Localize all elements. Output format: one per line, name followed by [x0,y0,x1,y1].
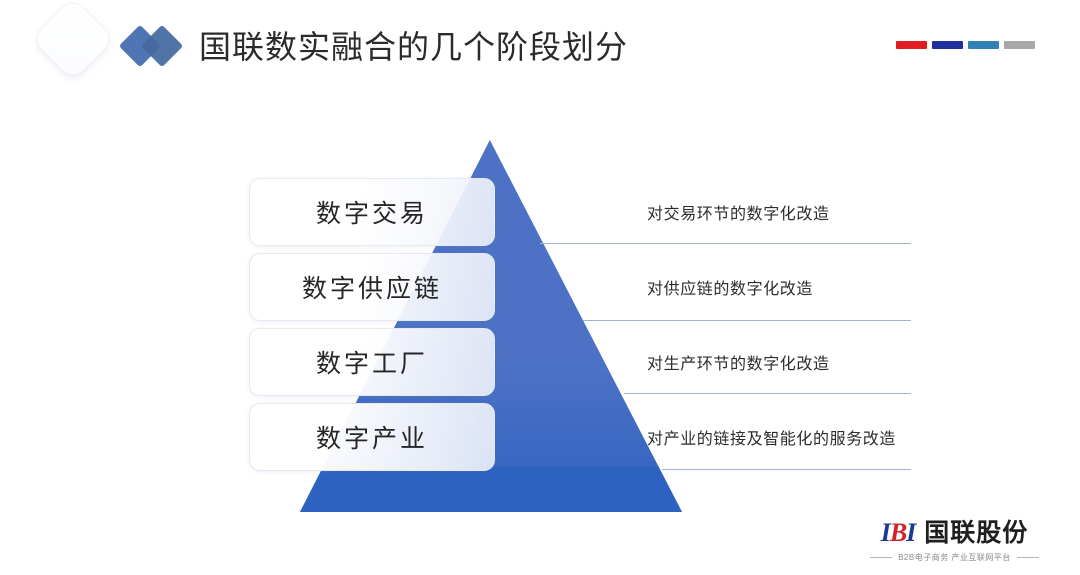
corner-color-bars [896,41,1035,49]
bar-blue [968,41,999,49]
stage-box-3[interactable]: 数字工厂 [249,328,495,396]
stage-label-4: 数字产业 [316,419,428,455]
logo-dash-right [1017,557,1039,558]
bar-gray [1004,41,1035,49]
stage-box-1[interactable]: 数字交易 [249,178,495,246]
stage-label-2: 数字供应链 [302,269,442,305]
logo-subtitle: B2B电子商务 产业互联网平台 [898,552,1011,563]
separator-rule-4 [662,469,911,470]
logo-company-name: 国联股份 [924,521,1028,546]
logomark-b: B [890,518,906,547]
stage-description-1: 对交易环节的数字化改造 [647,200,830,224]
stage-box-4[interactable]: 数字产业 [249,403,495,471]
diamond-outline-icon [32,0,114,80]
logomark-i-right: I [906,518,915,547]
separator-rule-1 [540,243,911,244]
logo-subtitle-row: B2B电子商务 产业互联网平台 [867,552,1042,563]
stage-description-2: 对供应链的数字化改造 [647,275,813,299]
stage-description-3: 对生产环节的数字化改造 [647,350,830,374]
slide-canvas: 国联数实融合的几个阶段划分 数字交易数字供应链数字工厂数字产业 对交易环节的数字… [0,0,1080,575]
stage-label-1: 数字交易 [316,194,428,230]
bar-red [896,41,927,49]
stage-label-3: 数字工厂 [316,344,428,380]
separator-rule-2 [583,320,911,321]
stage-description-4: 对产业的链接及智能化的服务改造 [647,425,896,449]
page-title: 国联数实融合的几个阶段划分 [199,25,628,69]
logo-row: IBI 国联股份 [867,520,1042,546]
separator-rule-3 [624,393,911,394]
logo-dash-left [870,557,892,558]
stage-box-2[interactable]: 数字供应链 [249,253,495,321]
bar-navy [932,41,963,49]
company-logo: IBI 国联股份 B2B电子商务 产业互联网平台 [867,520,1042,563]
logomark-i-left: I [881,518,890,547]
ibi-logomark-icon: IBI [881,520,916,546]
